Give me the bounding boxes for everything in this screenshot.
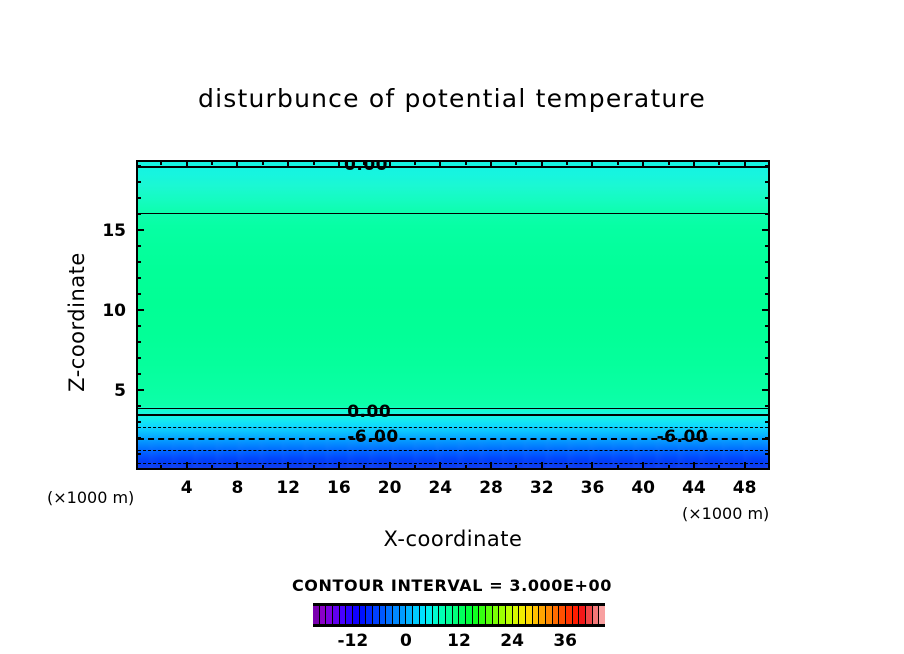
- x-tick-minor: [465, 465, 467, 469]
- page-title: disturbunce of potential temperature: [0, 84, 904, 113]
- colorbar-cell: [346, 606, 353, 624]
- x-tick-major-top: [389, 161, 391, 168]
- y-tick-minor: [137, 373, 141, 375]
- colorbar-cell: [513, 606, 520, 624]
- colorbar-cell: [420, 606, 427, 624]
- x-tick-minor-top: [668, 161, 670, 165]
- y-tick-minor: [137, 261, 141, 263]
- colorbar-cell: [539, 606, 546, 624]
- colorbar-cell: [393, 606, 400, 624]
- contour-label: -6.00: [347, 429, 399, 446]
- y-tick-minor-right: [765, 261, 769, 263]
- y-tick-major-right: [762, 309, 769, 311]
- x-tick-label: 8: [217, 478, 257, 498]
- colorbar-cell: [353, 606, 360, 624]
- colorbar-cell: [320, 606, 327, 624]
- x-tick-minor-top: [566, 161, 568, 165]
- colorbar-cell: [386, 606, 393, 624]
- contour-line: [138, 414, 768, 416]
- colorbar: [313, 603, 605, 627]
- colorbar-cell: [479, 606, 486, 624]
- x-tick-major: [389, 462, 391, 469]
- y-tick-minor-right: [765, 325, 769, 327]
- y-tick-minor-right: [765, 373, 769, 375]
- colorbar-cell: [439, 606, 446, 624]
- x-tick-label: 12: [268, 478, 308, 498]
- colorbar-cell: [546, 606, 553, 624]
- plot-area: 0.000.00-6.00-6.00: [136, 160, 770, 470]
- colorbar-tick-label: 24: [482, 631, 542, 651]
- x-tick-major-top: [642, 161, 644, 168]
- colorbar-cell: [459, 606, 466, 624]
- x-tick-minor: [160, 465, 162, 469]
- x-tick-minor: [313, 465, 315, 469]
- colorbar-cell: [453, 606, 460, 624]
- x-tick-major: [642, 462, 644, 469]
- y-tick-minor: [137, 437, 141, 439]
- colorbar-cell: [466, 606, 473, 624]
- colorbar-cell: [326, 606, 333, 624]
- x-tick-major: [287, 462, 289, 469]
- y-tick-minor: [137, 277, 141, 279]
- x-tick-minor-top: [160, 161, 162, 165]
- colorbar-cell: [473, 606, 480, 624]
- colorbar-cell: [360, 606, 367, 624]
- y-tick-minor: [137, 245, 141, 247]
- x-tick-major-top: [490, 161, 492, 168]
- x-tick-label: 40: [623, 478, 663, 498]
- x-tick-minor-top: [718, 161, 720, 165]
- colorbar-cell: [406, 606, 413, 624]
- x-tick-major-top: [287, 161, 289, 168]
- colorbar-cell: [313, 606, 320, 624]
- y-tick-minor-right: [765, 165, 769, 167]
- boundary-layer-texture: [138, 162, 768, 468]
- colorbar-cell: [593, 606, 600, 624]
- y-tick-major: [137, 309, 144, 311]
- colorbar-cell: [333, 606, 340, 624]
- colorbar-strip: [313, 606, 605, 624]
- y-tick-minor: [137, 213, 141, 215]
- x-tick-minor: [414, 465, 416, 469]
- y-tick-minor: [137, 453, 141, 455]
- contour-plot-figure: disturbunce of potential temperature 0.0…: [0, 0, 904, 654]
- y-tick-minor-right: [765, 453, 769, 455]
- colorbar-cell: [366, 606, 373, 624]
- x-tick-major: [236, 462, 238, 469]
- y-tick-minor-right: [765, 341, 769, 343]
- x-tick-label: 48: [725, 478, 765, 498]
- contour-interval-caption: CONTOUR INTERVAL = 3.000E+00: [0, 576, 904, 595]
- colorbar-cell: [380, 606, 387, 624]
- colorbar-cell: [559, 606, 566, 624]
- colorbar-cell: [499, 606, 506, 624]
- contour-line: [138, 463, 768, 464]
- x-axis-unit: (×1000 m): [682, 504, 769, 523]
- y-tick-major: [137, 389, 144, 391]
- colorbar-cell: [553, 606, 560, 624]
- y-tick-minor: [137, 357, 141, 359]
- x-tick-major: [541, 462, 543, 469]
- colorbar-tick-label: 0: [376, 631, 436, 651]
- x-tick-minor-top: [465, 161, 467, 165]
- y-tick-minor: [137, 165, 141, 167]
- y-tick-minor-right: [765, 405, 769, 407]
- x-tick-minor: [211, 465, 213, 469]
- colorbar-tick-label: 12: [429, 631, 489, 651]
- x-tick-minor: [515, 465, 517, 469]
- x-tick-label: 20: [370, 478, 410, 498]
- colorbar-cell: [533, 606, 540, 624]
- y-tick-minor-right: [765, 421, 769, 423]
- x-tick-minor-top: [262, 161, 264, 165]
- x-tick-minor: [718, 465, 720, 469]
- colorbar-cell: [446, 606, 453, 624]
- y-tick-minor: [137, 197, 141, 199]
- x-tick-major-top: [744, 161, 746, 168]
- contour-label: 0.00: [344, 160, 388, 174]
- x-tick-major: [439, 462, 441, 469]
- y-tick-minor-right: [765, 213, 769, 215]
- y-tick-minor-right: [765, 181, 769, 183]
- colorbar-tick-label: -12: [323, 631, 383, 651]
- x-tick-label: 28: [471, 478, 511, 498]
- colorbar-cell: [493, 606, 500, 624]
- y-tick-minor: [137, 181, 141, 183]
- x-tick-label: 24: [420, 478, 460, 498]
- x-tick-major-top: [693, 161, 695, 168]
- y-tick-minor: [137, 341, 141, 343]
- y-axis-title: Z-coordinate: [65, 212, 89, 432]
- colorbar-cell: [340, 606, 347, 624]
- contour-label: 0.00: [347, 404, 391, 421]
- colorbar-tick-label: 36: [535, 631, 595, 651]
- y-tick-minor-right: [765, 293, 769, 295]
- y-tick-major-right: [762, 389, 769, 391]
- x-tick-major: [186, 462, 188, 469]
- colorbar-cell: [526, 606, 533, 624]
- x-tick-label: 44: [674, 478, 714, 498]
- x-tick-minor-top: [313, 161, 315, 165]
- x-tick-label: 32: [522, 478, 562, 498]
- colorbar-cell: [579, 606, 586, 624]
- colorbar-cell: [586, 606, 593, 624]
- y-tick-major-right: [762, 229, 769, 231]
- contour-line: [138, 450, 768, 451]
- contour-line: [138, 213, 768, 214]
- x-axis-title: X-coordinate: [136, 527, 770, 551]
- x-tick-major-top: [439, 161, 441, 168]
- y-tick-major: [137, 229, 144, 231]
- y-tick-minor: [137, 405, 141, 407]
- x-tick-major-top: [541, 161, 543, 168]
- y-tick-label: 15: [92, 221, 126, 241]
- x-tick-major: [490, 462, 492, 469]
- y-tick-minor: [137, 293, 141, 295]
- x-tick-major: [338, 462, 340, 469]
- x-tick-label: 4: [167, 478, 207, 498]
- contour-line: [138, 166, 768, 168]
- y-tick-minor: [137, 421, 141, 423]
- y-tick-minor-right: [765, 245, 769, 247]
- x-tick-major: [591, 462, 593, 469]
- x-tick-label: 16: [319, 478, 359, 498]
- y-tick-label: 5: [92, 381, 126, 401]
- colorbar-cell: [373, 606, 380, 624]
- x-tick-minor: [668, 465, 670, 469]
- y-axis-unit: (×1000 m): [47, 488, 134, 507]
- colorbar-cell: [433, 606, 440, 624]
- colorbar-cell: [573, 606, 580, 624]
- x-tick-minor: [262, 465, 264, 469]
- y-tick-minor-right: [765, 437, 769, 439]
- x-tick-minor: [363, 465, 365, 469]
- x-tick-minor-top: [363, 161, 365, 165]
- y-tick-label: 10: [92, 301, 126, 321]
- x-tick-major-top: [186, 161, 188, 168]
- colorbar-cell: [400, 606, 407, 624]
- contour-label: -6.00: [657, 429, 709, 446]
- x-tick-major-top: [338, 161, 340, 168]
- x-tick-major-top: [591, 161, 593, 168]
- y-tick-minor-right: [765, 277, 769, 279]
- x-tick-minor: [617, 465, 619, 469]
- contour-line: [138, 408, 768, 409]
- colorbar-cell: [599, 606, 605, 624]
- x-tick-minor-top: [211, 161, 213, 165]
- x-tick-minor-top: [414, 161, 416, 165]
- x-tick-label: 36: [572, 478, 612, 498]
- x-tick-minor: [566, 465, 568, 469]
- colorbar-cell: [426, 606, 433, 624]
- y-tick-minor-right: [765, 197, 769, 199]
- y-tick-minor: [137, 325, 141, 327]
- x-tick-minor-top: [515, 161, 517, 165]
- x-tick-major: [744, 462, 746, 469]
- x-tick-major-top: [236, 161, 238, 168]
- colorbar-cell: [506, 606, 513, 624]
- colorbar-cell: [566, 606, 573, 624]
- x-tick-minor-top: [617, 161, 619, 165]
- colorbar-cell: [519, 606, 526, 624]
- colorbar-cell: [486, 606, 493, 624]
- y-tick-minor-right: [765, 357, 769, 359]
- colorbar-cell: [413, 606, 420, 624]
- x-tick-major: [693, 462, 695, 469]
